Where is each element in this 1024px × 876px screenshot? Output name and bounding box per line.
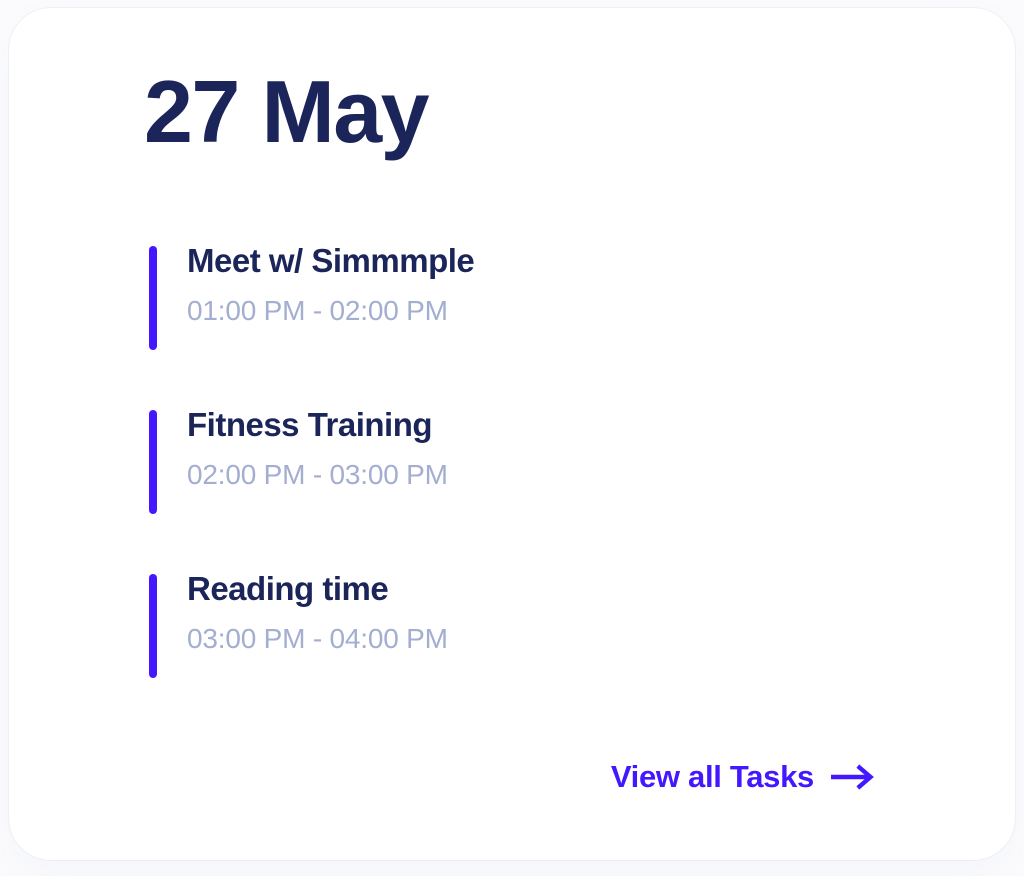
list-item[interactable]: Meet w/ Simmmple 01:00 PM - 02:00 PM	[149, 240, 905, 344]
app-root: 27 May Meet w/ Simmmple 01:00 PM - 02:00…	[0, 0, 1024, 876]
view-all-tasks-label: View all Tasks	[611, 761, 814, 792]
list-item[interactable]: Fitness Training 02:00 PM - 03:00 PM	[149, 404, 905, 508]
task-accent-bar	[149, 410, 157, 514]
task-list: Meet w/ Simmmple 01:00 PM - 02:00 PM Fit…	[149, 240, 905, 672]
task-body: Reading time 03:00 PM - 04:00 PM	[187, 568, 448, 656]
task-name: Meet w/ Simmmple	[187, 241, 474, 281]
page-title: 27 May	[144, 66, 428, 158]
task-name: Reading time	[187, 569, 448, 609]
task-body: Meet w/ Simmmple 01:00 PM - 02:00 PM	[187, 240, 474, 328]
task-name: Fitness Training	[187, 405, 448, 445]
task-time: 02:00 PM - 03:00 PM	[187, 458, 448, 492]
task-accent-bar	[149, 246, 157, 350]
tasks-card: 27 May Meet w/ Simmmple 01:00 PM - 02:00…	[9, 8, 1015, 860]
card-header: 27 May	[144, 66, 428, 158]
card-footer: View all Tasks	[611, 761, 875, 792]
view-all-tasks-button[interactable]: View all Tasks	[611, 761, 875, 792]
task-time: 01:00 PM - 02:00 PM	[187, 294, 474, 328]
task-accent-bar	[149, 574, 157, 678]
task-time: 03:00 PM - 04:00 PM	[187, 622, 448, 656]
list-item[interactable]: Reading time 03:00 PM - 04:00 PM	[149, 568, 905, 672]
arrow-right-icon	[831, 762, 875, 792]
task-body: Fitness Training 02:00 PM - 03:00 PM	[187, 404, 448, 492]
